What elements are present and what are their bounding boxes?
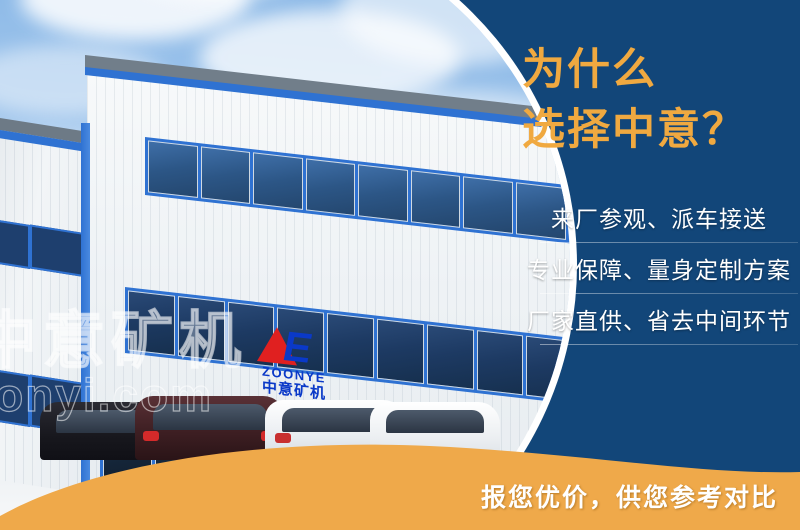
- window-left-upper: [0, 217, 30, 269]
- feature-item-1: 来厂参观、派车接送: [500, 192, 800, 242]
- window-pane: [427, 324, 474, 389]
- feature-item-2: 专业保障、量身定制方案: [500, 243, 800, 293]
- promo-banner: E ZOONYE 中意矿机: [0, 0, 800, 530]
- letter-e-icon: E: [283, 326, 311, 369]
- window-pane: [201, 146, 251, 204]
- window-pane: [148, 140, 198, 198]
- window-pane: [306, 158, 356, 216]
- feature-divider: [540, 344, 798, 345]
- window-left-upper: [30, 224, 84, 277]
- feature-list: 来厂参观、派车接送 专业保障、量身定制方案 厂家直供、省去中间环节: [500, 192, 800, 345]
- feature-item-3: 厂家直供、省去中间环节: [500, 294, 800, 344]
- window-pane: [253, 152, 303, 210]
- window-pane: [128, 290, 175, 355]
- headline-line-1: 为什么: [522, 40, 800, 100]
- window-pane: [178, 296, 225, 361]
- headline-line-2: 选择中意？: [522, 100, 800, 160]
- content-column: 为什么 选择中意？ 来厂参观、派车接送 专业保障、量身定制方案 厂家直供、省去中…: [500, 0, 800, 530]
- window-pane: [358, 164, 408, 222]
- window-pane: [411, 170, 461, 228]
- page-title: 为什么 选择中意？: [522, 40, 800, 160]
- window-left-lower: [0, 367, 30, 427]
